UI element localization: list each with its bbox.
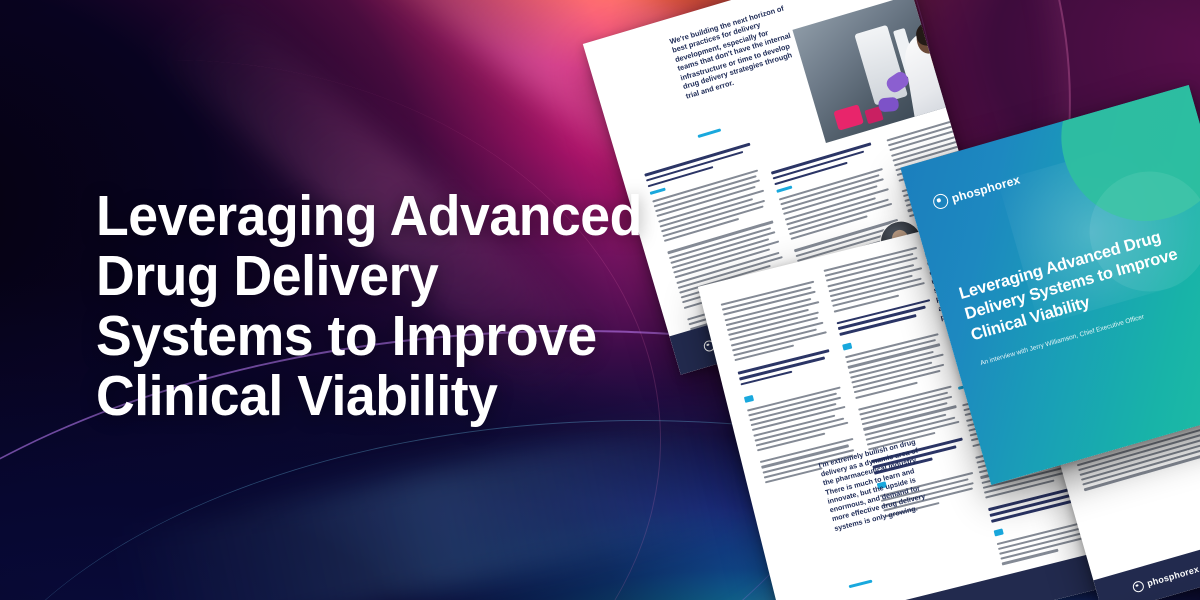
vignette-overlay	[0, 0, 1200, 600]
hero-banner: We're building the next horizon of best …	[0, 0, 1200, 600]
